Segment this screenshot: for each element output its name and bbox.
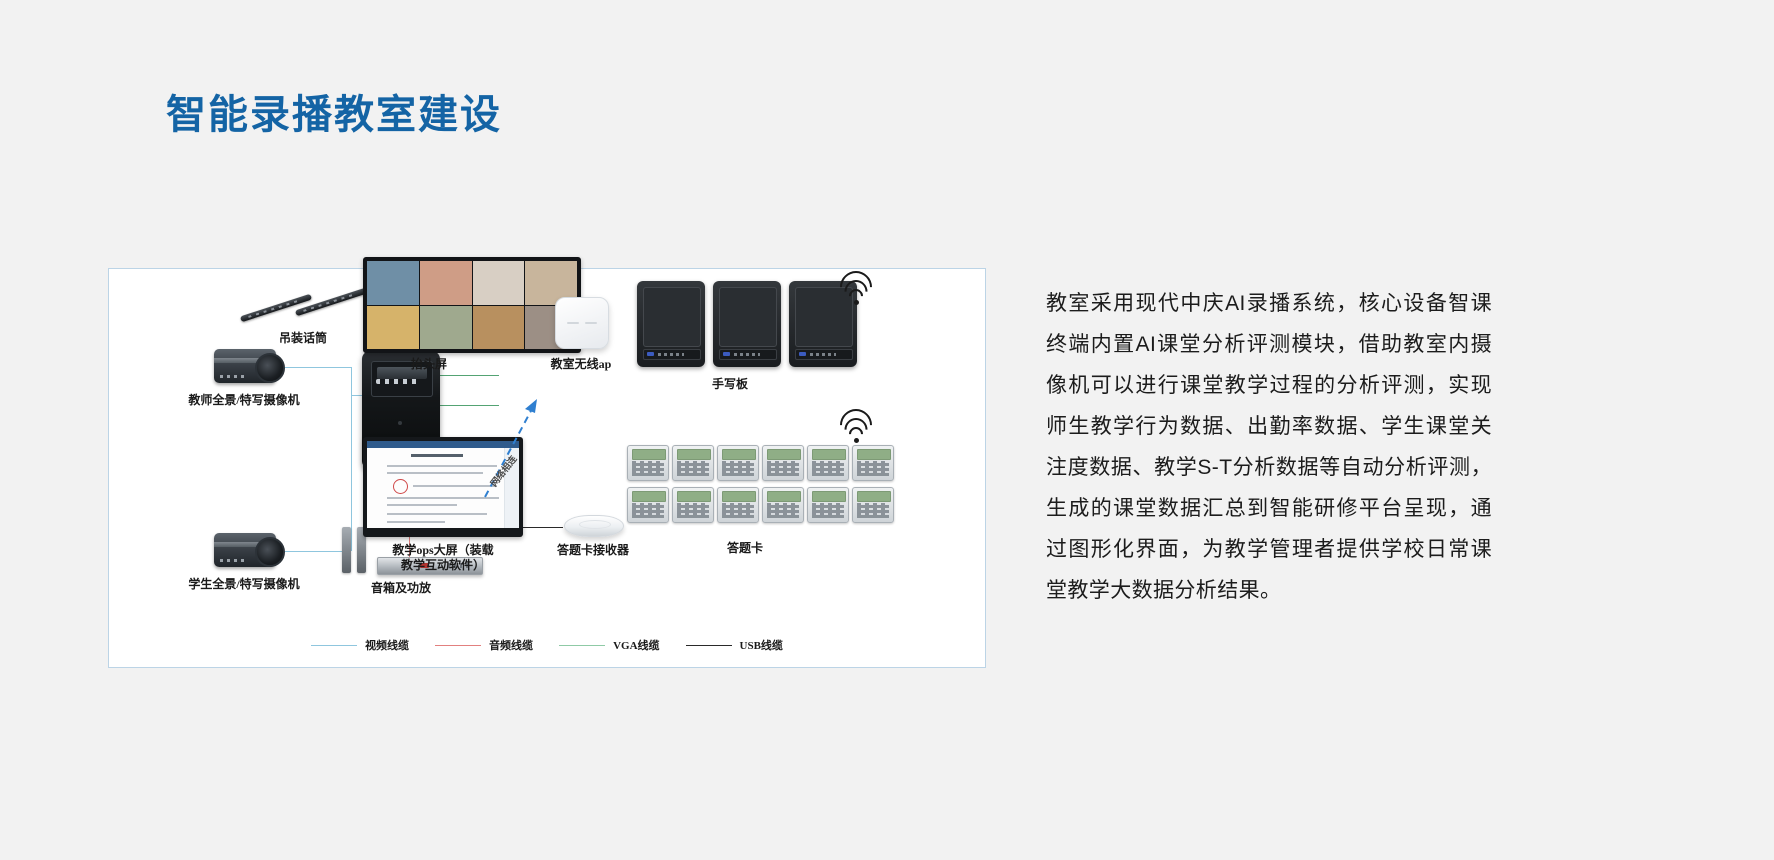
answer-card-3 <box>717 445 759 481</box>
clicker-keypad <box>632 503 664 518</box>
head-up-screen-device <box>363 257 581 353</box>
camera-indicator-leds <box>220 559 248 562</box>
tablet-button-strip <box>719 349 777 360</box>
answer-card-receiver-device <box>564 515 624 537</box>
answer-card-1 <box>627 445 669 481</box>
network-link-arrow <box>477 393 547 503</box>
legend-label-vga: VGA线缆 <box>613 637 659 653</box>
clicker-keypad <box>857 461 889 476</box>
legend-item-usb: USB线缆 <box>686 637 783 653</box>
line-ops-to-receiver <box>519 527 563 528</box>
clicker-screen <box>677 449 711 460</box>
answer-card-9 <box>717 487 759 523</box>
clicker-keypad <box>632 461 664 476</box>
answer-card-5 <box>807 445 849 481</box>
ap-vent-slit <box>567 322 579 324</box>
answer-card-10 <box>762 487 804 523</box>
tablet-button-strip <box>643 349 701 360</box>
camera-ridge <box>214 358 276 363</box>
student-camera-device <box>214 533 276 567</box>
label-card-receiver: 答题卡接收器 <box>557 543 629 558</box>
clicker-screen <box>857 491 891 502</box>
answer-card-11 <box>807 487 849 523</box>
label-ceiling-mic: 吊装话筒 <box>279 331 327 346</box>
clicker-keypad <box>767 503 799 518</box>
clicker-keypad <box>812 461 844 476</box>
clicker-screen <box>767 491 801 502</box>
ap-vent-slit <box>585 322 597 324</box>
screen-cell <box>473 261 525 305</box>
clicker-screen <box>812 449 846 460</box>
screen-cell <box>420 261 472 305</box>
clicker-screen <box>767 449 801 460</box>
tablet-pad <box>643 287 701 347</box>
camera-indicator-leds <box>220 375 248 378</box>
label-answer-card: 答题卡 <box>727 541 763 556</box>
legend-swatch-vga <box>559 645 605 646</box>
label-wireless-ap: 教室无线ap <box>551 357 612 372</box>
legend-item-video: 视频线缆 <box>311 637 409 653</box>
wifi-signal-icon-tablets <box>839 273 873 303</box>
label-student-camera: 学生全景/特写摄像机 <box>188 577 299 592</box>
clicker-keypad <box>722 503 754 518</box>
ops-slide-line <box>387 513 487 515</box>
tablet-pad <box>719 287 777 347</box>
speaker-left <box>342 527 351 573</box>
system-topology-diagram: 教师全景/特写摄像机 学生全景/特写摄像机 吊装话筒 智课终端 音箱及功放 抬头… <box>108 268 986 668</box>
clicker-keypad <box>857 503 889 518</box>
wifi-dot <box>854 300 859 305</box>
page-title: 智能录播教室建设 <box>166 82 502 140</box>
answer-card-2 <box>672 445 714 481</box>
terminal-status-dot <box>398 421 402 425</box>
clicker-screen <box>677 491 711 502</box>
diagram-legend: 视频线缆 音频线缆 VGA线缆 USB线缆 <box>109 637 985 653</box>
writing-tablet-1 <box>637 281 705 367</box>
clicker-screen <box>812 491 846 502</box>
legend-swatch-usb <box>686 645 732 646</box>
line-teacher-camera-to-bus <box>285 367 351 368</box>
legend-swatch-video <box>311 645 357 646</box>
legend-label-usb: USB线缆 <box>740 637 783 653</box>
answer-card-8 <box>672 487 714 523</box>
clicker-screen <box>722 491 756 502</box>
label-teacher-camera: 教师全景/特写摄像机 <box>188 393 299 408</box>
teacher-camera-device <box>214 349 276 383</box>
legend-label-video: 视频线缆 <box>365 637 409 653</box>
tablet-button-strip <box>795 349 853 360</box>
ops-slide-line <box>387 521 445 523</box>
clicker-keypad <box>767 461 799 476</box>
legend-label-audio: 音频线缆 <box>489 637 533 653</box>
clicker-keypad <box>677 461 709 476</box>
screen-cell <box>420 306 472 350</box>
clicker-keypad <box>722 461 754 476</box>
wifi-dot <box>854 438 859 443</box>
label-speakers-amp: 音箱及功放 <box>371 581 431 596</box>
clicker-screen <box>722 449 756 460</box>
legend-item-audio: 音频线缆 <box>435 637 533 653</box>
legend-item-vga: VGA线缆 <box>559 637 659 653</box>
ops-slide-annotation-circle <box>393 479 408 494</box>
ops-slide-line <box>387 504 457 506</box>
writing-tablet-2 <box>713 281 781 367</box>
screen-cell <box>473 306 525 350</box>
head-up-screen-grid <box>367 261 577 349</box>
answer-card-6 <box>852 445 894 481</box>
label-head-up-screen: 抬头屏 <box>411 357 447 372</box>
description-paragraph: 教室采用现代中庆AI录播系统，核心设备智课终端内置AI课堂分析评测模块，借助教室… <box>1046 283 1492 611</box>
answer-card-7 <box>627 487 669 523</box>
ops-slide-heading <box>411 454 463 457</box>
clicker-screen <box>632 491 666 502</box>
ops-slide-line <box>387 472 483 474</box>
terminal-control-knobs <box>376 379 420 384</box>
clicker-screen <box>632 449 666 460</box>
clicker-keypad <box>677 503 709 518</box>
label-writing-tablet: 手写板 <box>712 377 748 392</box>
clicker-keypad <box>812 503 844 518</box>
screen-cell <box>367 261 419 305</box>
clicker-screen <box>857 449 891 460</box>
ceiling-microphone-2 <box>295 288 367 317</box>
answer-card-4 <box>762 445 804 481</box>
wifi-signal-icon-cards <box>839 411 873 441</box>
answer-card-12 <box>852 487 894 523</box>
screen-cell <box>367 306 419 350</box>
label-ops-screen: 教学ops大屏（装载 教学互动软件） <box>392 543 493 573</box>
legend-swatch-audio <box>435 645 481 646</box>
wireless-ap-device <box>555 297 609 349</box>
camera-ridge <box>214 542 276 547</box>
